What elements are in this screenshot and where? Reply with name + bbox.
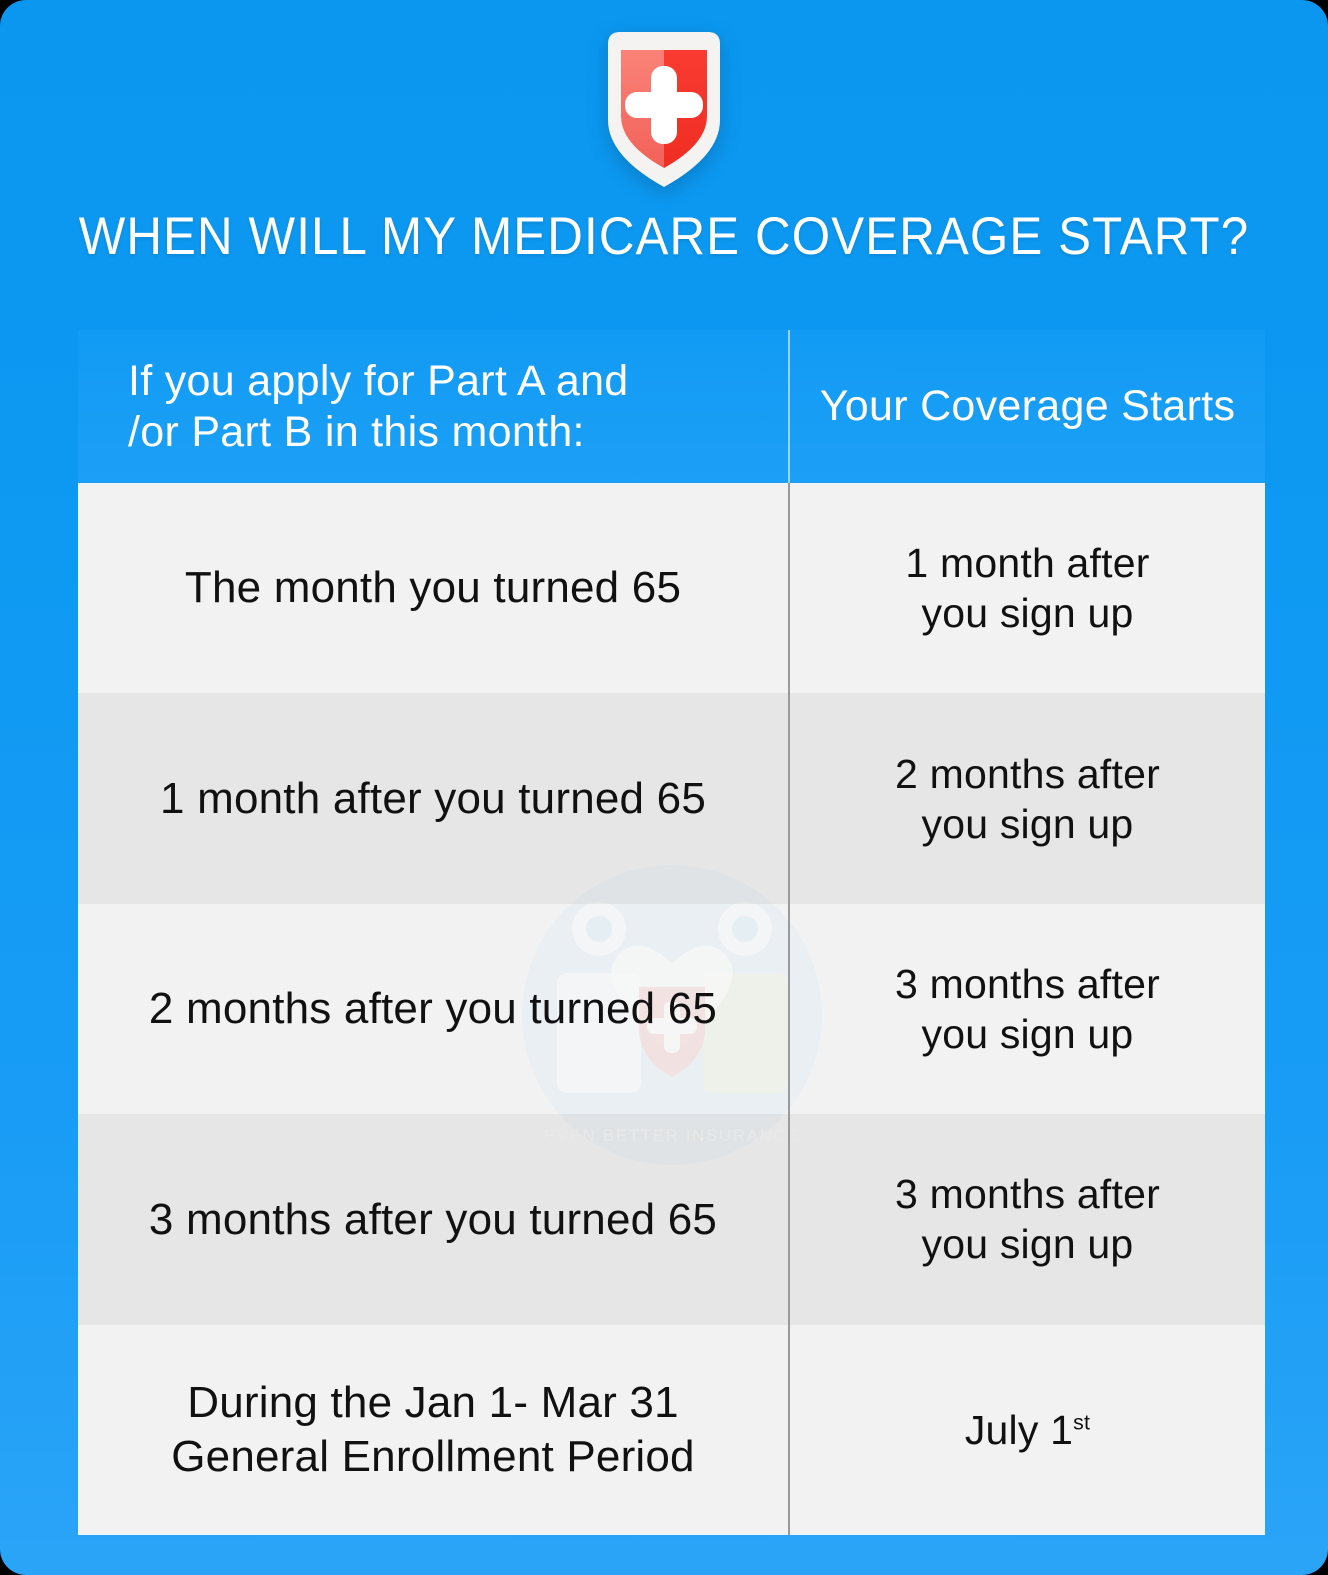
- row-condition: The month you turned 65: [78, 483, 788, 693]
- row-result-line1: 3 months after: [895, 1169, 1160, 1219]
- table-row: 2 months after you turned 65 3 months af…: [78, 904, 1265, 1114]
- row-condition: 1 month after you turned 65: [78, 693, 788, 903]
- row-condition: 3 months after you turned 65: [78, 1114, 788, 1324]
- row-result: July 1st: [788, 1325, 1265, 1535]
- page-title: WHEN WILL MY MEDICARE COVERAGE START?: [46, 206, 1281, 267]
- row-result-line2: you sign up: [905, 588, 1149, 638]
- coverage-table: If you apply for Part A and /or Part B i…: [78, 330, 1265, 1535]
- row-result-line2: you sign up: [895, 799, 1160, 849]
- row-condition-line2: General Enrollment Period: [171, 1432, 694, 1481]
- table-body: EVEN BETTER INSURANCE The month you turn…: [78, 483, 1265, 1535]
- row-result: 3 months after you sign up: [788, 1114, 1265, 1324]
- ordinal-suffix: st: [1073, 1410, 1090, 1434]
- table-row: 3 months after you turned 65 3 months af…: [78, 1114, 1265, 1324]
- row-condition-line1: During the Jan 1- Mar 31: [187, 1378, 679, 1427]
- column-header-apply-month-line1: If you apply for Part A and: [128, 357, 629, 405]
- table-header-row: If you apply for Part A and /or Part B i…: [78, 330, 1265, 483]
- row-result-line2: you sign up: [895, 1009, 1160, 1059]
- column-header-apply-month-line2: /or Part B in this month:: [128, 408, 585, 456]
- column-header-apply-month: If you apply for Part A and /or Part B i…: [78, 330, 788, 483]
- row-result-line1: 3 months after: [895, 959, 1160, 1009]
- row-result-line1: 1 month after: [905, 538, 1149, 588]
- row-result: 3 months after you sign up: [788, 904, 1265, 1114]
- row-result-line1: 2 months after: [895, 749, 1160, 799]
- infographic-card: WHEN WILL MY MEDICARE COVERAGE START? If…: [0, 0, 1328, 1575]
- row-result: 2 months after you sign up: [788, 693, 1265, 903]
- row-condition: 2 months after you turned 65: [78, 904, 788, 1114]
- table-row: 1 month after you turned 65 2 months aft…: [78, 693, 1265, 903]
- logo-container: [0, 28, 1328, 193]
- shield-medical-cross-icon: [594, 28, 734, 191]
- table-row: During the Jan 1- Mar 31 General Enrollm…: [78, 1325, 1265, 1535]
- column-header-coverage-starts: Your Coverage Starts: [788, 330, 1265, 483]
- row-result: 1 month after you sign up: [788, 483, 1265, 693]
- row-result-date: July 1: [965, 1407, 1073, 1453]
- table-row: The month you turned 65 1 month after yo…: [78, 483, 1265, 693]
- row-result-line2: you sign up: [895, 1219, 1160, 1269]
- row-condition: During the Jan 1- Mar 31 General Enrollm…: [78, 1325, 788, 1535]
